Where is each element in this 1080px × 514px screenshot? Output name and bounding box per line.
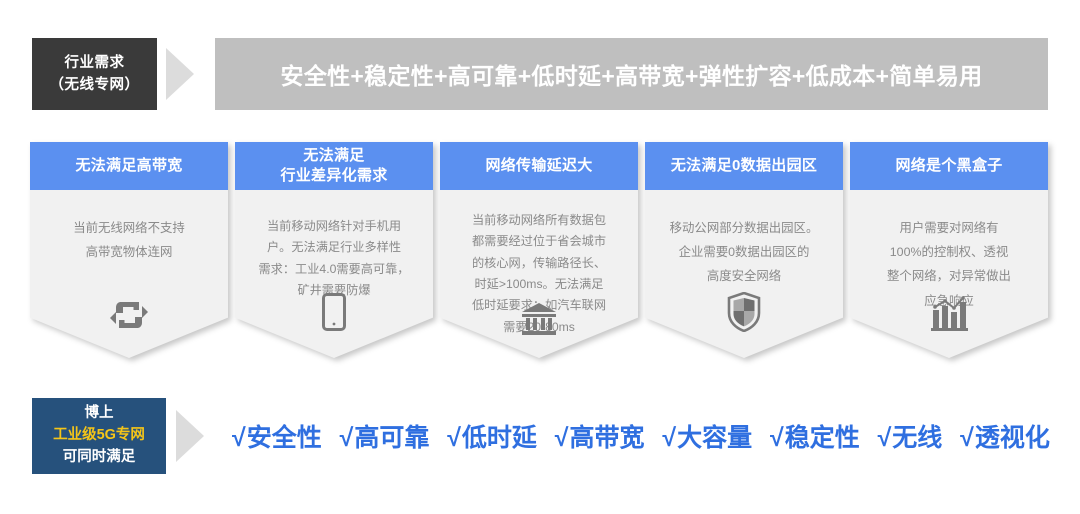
bank-building-icon [440,302,638,336]
benefit-label: 无线 [892,424,942,452]
benefit-item-2: √高可靠 [340,418,430,454]
benefit-label: 高带宽 [570,424,645,452]
benefit-label: 高可靠 [354,424,429,452]
shield-icon [645,292,843,332]
check-icon: √ [770,424,784,452]
pain-point-card-2[interactable]: 无法满足 行业差异化需求 当前移动网络针对手机用 户。无法满足行业多样性 需求：… [235,142,433,358]
check-icon: √ [878,424,892,452]
benefit-item-1: √安全性 [232,418,322,454]
benefit-label: 稳定性 [785,424,860,452]
check-icon: √ [662,424,676,452]
card-body: 移动公网部分数据出园区。 企业需要0数据出园区的 高度安全网络 [645,190,843,358]
card-description: 当前无线网络不支持 高带宽物体连网 [44,216,214,264]
card-body: 当前移动网络所有数据包 都需要经过位于省会城市 的核心网，传输路径长、 时延>1… [440,190,638,358]
arrow-right-icon-top [166,48,194,100]
pain-point-card-3[interactable]: 网络传输延迟大 当前移动网络所有数据包 都需要经过位于省会城市 的核心网，传输路… [440,142,638,358]
requirements-row: 行业需求 （无线专网） 安全性+稳定性+高可靠+低时延+高带宽+弹性扩容+低成本… [0,38,1080,110]
check-icon: √ [447,424,461,452]
bar-chart-icon [850,296,1048,332]
solution-tag-line2: 工业级5G专网 [53,425,145,447]
card-title: 网络是个黑盒子 [850,142,1048,190]
benefit-item-3: √低时延 [447,418,537,454]
check-icon: √ [555,424,569,452]
benefit-item-7: √无线 [878,418,943,454]
industry-requirement-tag: 行业需求 （无线专网） [32,38,157,110]
check-icon: √ [960,424,974,452]
pain-point-card-5[interactable]: 网络是个黑盒子 用户需要对网络有 100%的控制权、透视 整个网络，对异常做出 … [850,142,1048,358]
requirements-banner: 安全性+稳定性+高可靠+低时延+高带宽+弹性扩容+低成本+简单易用 [215,38,1048,110]
solution-tag-line1: 博上 [85,403,114,425]
industry-requirement-tag-line2: （无线专网） [50,74,140,96]
pain-point-card-1[interactable]: 无法满足高带宽 当前无线网络不支持 高带宽物体连网 [30,142,228,358]
arrow-right-icon-bottom [176,410,204,462]
benefit-list: √安全性 √高可靠 √低时延 √高带宽 √大容量 √稳定性 √无线 √透视化 [232,398,1050,474]
card-description: 移动公网部分数据出园区。 企业需要0数据出园区的 高度安全网络 [659,216,829,289]
benefit-label: 大容量 [677,424,752,452]
card-title: 无法满足 行业差异化需求 [235,142,433,190]
check-icon: √ [232,424,246,452]
pain-point-card-4[interactable]: 无法满足0数据出园区 移动公网部分数据出园区。 企业需要0数据出园区的 高度安全… [645,142,843,358]
repeat-loop-icon [30,298,228,332]
benefit-item-6: √稳定性 [770,418,860,454]
benefit-item-8: √透视化 [960,418,1050,454]
slide-canvas: 行业需求 （无线专网） 安全性+稳定性+高可靠+低时延+高带宽+弹性扩容+低成本… [0,0,1080,514]
benefit-label: 低时延 [462,424,537,452]
card-title: 网络传输延迟大 [440,142,638,190]
pain-point-cards: 无法满足高带宽 当前无线网络不支持 高带宽物体连网 无法满足 行业差异化需求 当… [0,142,1080,372]
benefit-item-5: √大容量 [662,418,752,454]
card-body: 用户需要对网络有 100%的控制权、透视 整个网络，对异常做出 应急响应 [850,190,1048,358]
industry-requirement-tag-line1: 行业需求 [65,52,125,74]
card-description: 当前移动网络针对手机用 户。无法满足行业多样性 需求：工业4.0需要高可靠， 矿… [249,216,419,301]
check-icon: √ [340,424,354,452]
solution-tag-line3: 可同时满足 [63,447,136,469]
benefit-label: 安全性 [247,424,322,452]
solution-row: 博上 工业级5G专网 可同时满足 √安全性 √高可靠 √低时延 √高带宽 √大容… [0,398,1080,478]
smartphone-icon [235,292,433,332]
card-body: 当前移动网络针对手机用 户。无法满足行业多样性 需求：工业4.0需要高可靠， 矿… [235,190,433,358]
card-body: 当前无线网络不支持 高带宽物体连网 [30,190,228,358]
benefit-item-4: √高带宽 [555,418,645,454]
card-title: 无法满足0数据出园区 [645,142,843,190]
benefit-label: 透视化 [975,424,1050,452]
card-title: 无法满足高带宽 [30,142,228,190]
solution-tag: 博上 工业级5G专网 可同时满足 [32,398,166,474]
